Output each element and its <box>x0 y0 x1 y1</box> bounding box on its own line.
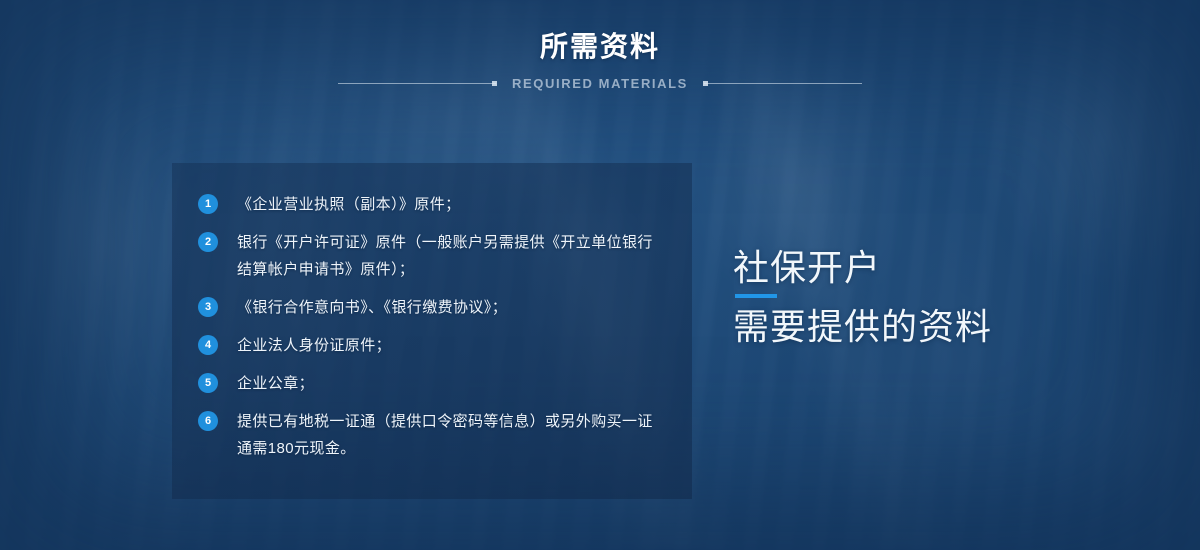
item-text: 提供已有地税一证通（提供口令密码等信息）或另外购买一证通需180元现金。 <box>237 408 668 462</box>
item-text: 企业公章； <box>237 370 314 397</box>
item-number-badge: 5 <box>198 373 218 393</box>
item-number-badge: 6 <box>198 411 218 431</box>
item-text: 《企业营业执照（副本）》原件； <box>237 191 461 218</box>
page-title: 所需资料 <box>0 30 1200 64</box>
materials-list: 1 《企业营业执照（副本）》原件； 2 银行《开户许可证》原件（一般账户另需提供… <box>198 191 668 473</box>
materials-panel: 1 《企业营业执照（副本）》原件； 2 银行《开户许可证》原件（一般账户另需提供… <box>172 163 692 499</box>
item-number-badge: 4 <box>198 335 218 355</box>
item-number-badge: 1 <box>198 194 218 214</box>
page-subtitle: REQUIRED MATERIALS <box>512 76 688 91</box>
list-item: 1 《企业营业执照（副本）》原件； <box>198 191 668 218</box>
side-heading-line-2: 需要提供的资料 <box>733 305 1153 349</box>
list-item: 5 企业公章； <box>198 370 668 397</box>
side-heading-line-1: 社保开户 <box>733 246 1153 290</box>
list-item: 4 企业法人身份证原件； <box>198 332 668 359</box>
divider-line-right <box>704 83 862 84</box>
item-text: 《银行合作意向书》、《银行缴费协议》； <box>237 294 507 321</box>
item-text: 企业法人身份证原件； <box>237 332 391 359</box>
list-item: 2 银行《开户许可证》原件（一般账户另需提供《开立单位银行结算帐户申请书》原件）… <box>198 229 668 283</box>
list-item: 3 《银行合作意向书》、《银行缴费协议》； <box>198 294 668 321</box>
header: 所需资料 REQUIRED MATERIALS <box>0 30 1200 91</box>
divider-line-left <box>338 83 496 84</box>
subtitle-row: REQUIRED MATERIALS <box>0 76 1200 91</box>
item-text: 银行《开户许可证》原件（一般账户另需提供《开立单位银行结算帐户申请书》原件）； <box>237 229 668 283</box>
promo-banner: 所需资料 REQUIRED MATERIALS 1 《企业营业执照（副本）》原件… <box>0 0 1200 550</box>
item-number-badge: 2 <box>198 232 218 252</box>
accent-bar <box>735 294 777 298</box>
item-number-badge: 3 <box>198 297 218 317</box>
side-heading: 社保开户 需要提供的资料 <box>733 246 1153 349</box>
list-item: 6 提供已有地税一证通（提供口令密码等信息）或另外购买一证通需180元现金。 <box>198 408 668 462</box>
